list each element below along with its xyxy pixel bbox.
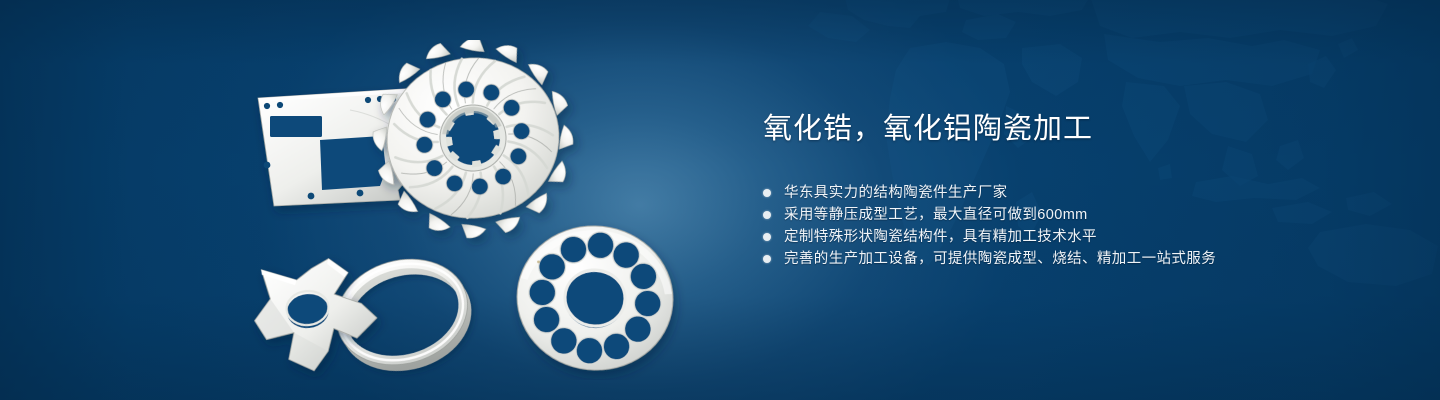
list-item: 完善的生产加工设备，可提供陶瓷成型、烧结、精加工一站式服务 bbox=[763, 248, 1383, 270]
list-item: 定制特殊形状陶瓷结构件，具有精加工技术水平 bbox=[763, 226, 1383, 248]
feature-text: 定制特殊形状陶瓷结构件，具有精加工技术水平 bbox=[784, 226, 1097, 248]
bullet-dot-icon bbox=[763, 211, 771, 219]
banner-headline: 氧化锆，氧化铝陶瓷加工 bbox=[763, 112, 1383, 147]
banner-copy: 氧化锆，氧化铝陶瓷加工 华东具实力的结构陶瓷件生产厂家 采用等静压成型工艺，最大… bbox=[763, 112, 1383, 270]
ceramic-holed-disc-part bbox=[510, 218, 680, 378]
bullet-dot-icon bbox=[763, 255, 771, 263]
ceramic-impeller-part bbox=[360, 40, 586, 251]
list-item: 采用等静压成型工艺，最大直径可做到600mm bbox=[763, 204, 1383, 226]
bullet-dot-icon bbox=[763, 189, 771, 197]
feature-text: 完善的生产加工设备，可提供陶瓷成型、烧结、精加工一站式服务 bbox=[784, 248, 1216, 270]
bullet-dot-icon bbox=[763, 233, 771, 241]
feature-text: 采用等静压成型工艺，最大直径可做到600mm bbox=[784, 204, 1088, 226]
feature-list: 华东具实力的结构陶瓷件生产厂家 采用等静压成型工艺，最大直径可做到600mm 定… bbox=[763, 182, 1383, 270]
hero-banner: 氧化锆，氧化铝陶瓷加工 华东具实力的结构陶瓷件生产厂家 采用等静压成型工艺，最大… bbox=[0, 0, 1440, 400]
list-item: 华东具实力的结构陶瓷件生产厂家 bbox=[763, 182, 1383, 204]
ceramic-parts-photo bbox=[230, 40, 700, 380]
feature-text: 华东具实力的结构陶瓷件生产厂家 bbox=[784, 182, 1008, 204]
